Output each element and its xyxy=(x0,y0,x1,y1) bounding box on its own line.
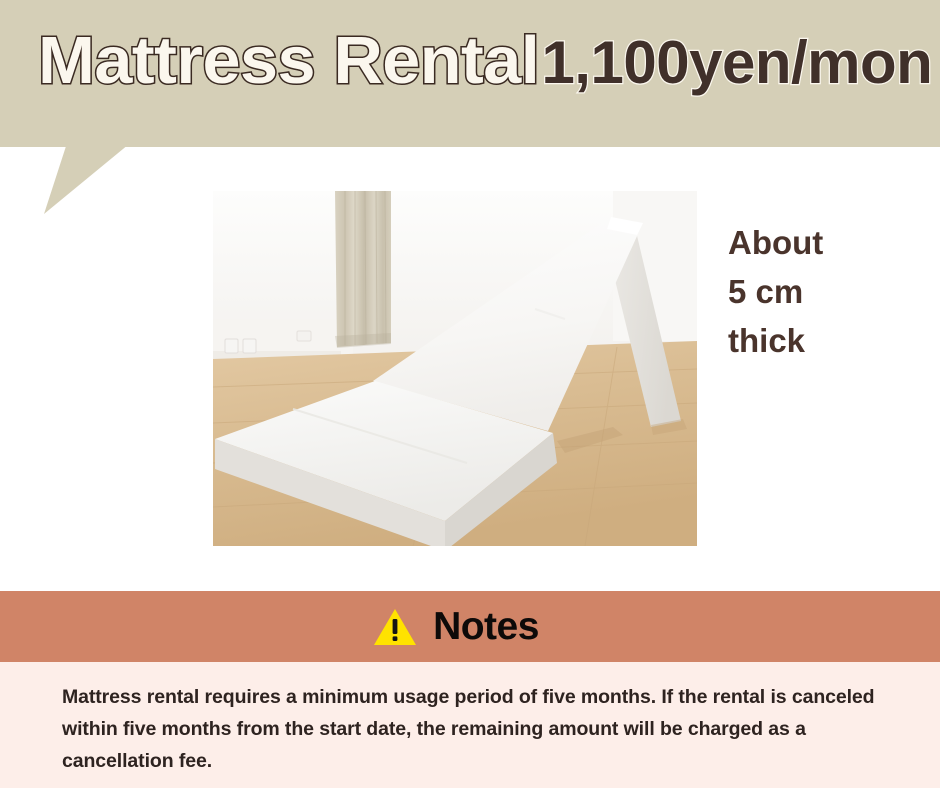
notes-title: Notes xyxy=(433,607,539,646)
thickness-caption-line-3: thick xyxy=(728,316,928,365)
thickness-caption-line-2: 5 cm xyxy=(728,267,928,316)
header-title-row: Mattress Rental 1,100yen/mon xyxy=(38,27,932,94)
mattress-photo-illustration xyxy=(213,191,697,546)
notes-header-band: Notes xyxy=(0,591,940,662)
price-label: 1,100yen/mon xyxy=(541,33,932,93)
thickness-caption-line-1: About xyxy=(728,218,928,267)
notes-body-text: Mattress rental requires a minimum usage… xyxy=(62,682,882,777)
header-banner: Mattress Rental 1,100yen/mon xyxy=(0,0,940,147)
notes-body-area: Mattress rental requires a minimum usage… xyxy=(0,662,940,788)
warning-triangle-icon xyxy=(373,607,417,647)
product-photo xyxy=(213,191,697,546)
mattress-rental-card: Mattress Rental 1,100yen/mon xyxy=(0,0,940,788)
page-title: Mattress Rental xyxy=(38,27,539,94)
thickness-caption: About 5 cm thick xyxy=(728,218,928,365)
notes-header-inner: Notes xyxy=(373,607,539,647)
